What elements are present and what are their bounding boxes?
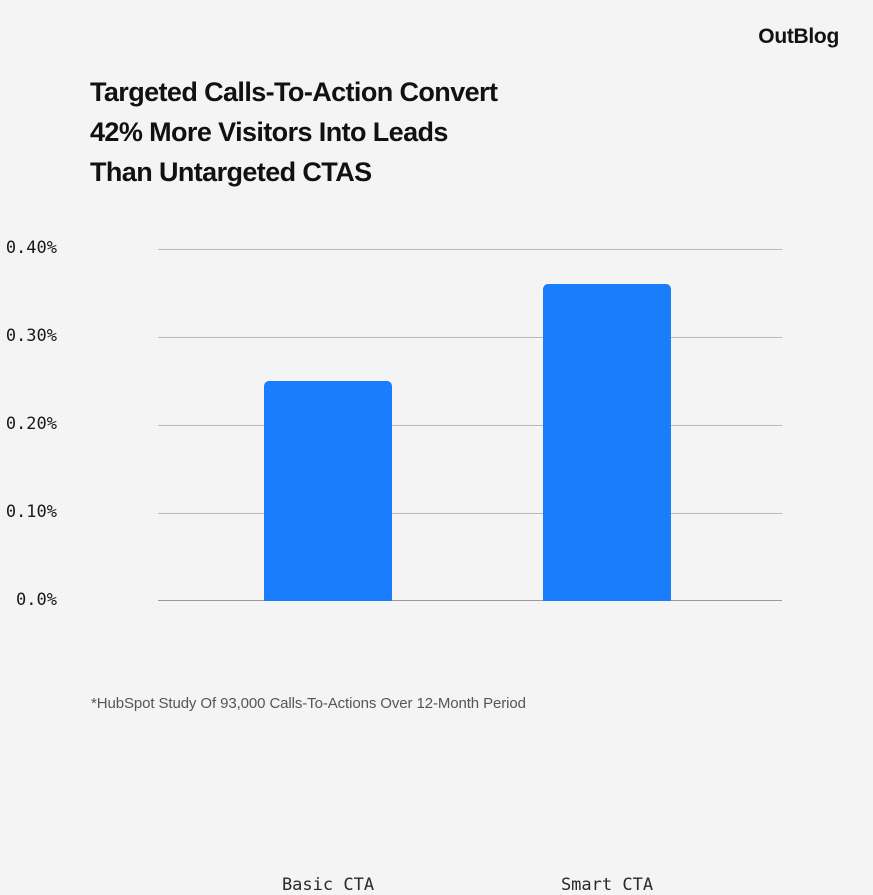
y-axis-tick-label: 0.20% [0, 414, 57, 434]
y-axis-tick-label: 0.0% [0, 590, 57, 610]
x-axis-tick-label: Basic CTA [208, 875, 448, 895]
plot-area: 0.0%0.10%0.20%0.30%0.40%Basic CTASmart C… [158, 249, 782, 601]
y-axis-tick-label: 0.10% [0, 502, 57, 522]
gridline [158, 513, 782, 514]
chart-page: OutBlog Targeted Calls-To-Action Convert… [0, 0, 873, 800]
y-axis-tick-label: 0.40% [0, 238, 57, 258]
gridline [158, 249, 782, 250]
bar-chart: 0.0%0.10%0.20%0.30%0.40%Basic CTASmart C… [0, 0, 873, 800]
chart-footnote: *HubSpot Study Of 93,000 Calls-To-Action… [91, 695, 526, 712]
y-axis-tick-label: 0.30% [0, 326, 57, 346]
x-axis-tick-label: Smart CTA [487, 875, 727, 895]
x-axis-line [158, 600, 782, 601]
bar-basic-cta[interactable] [264, 381, 392, 601]
gridline [158, 337, 782, 338]
bar-smart-cta[interactable] [543, 284, 671, 601]
gridline [158, 425, 782, 426]
